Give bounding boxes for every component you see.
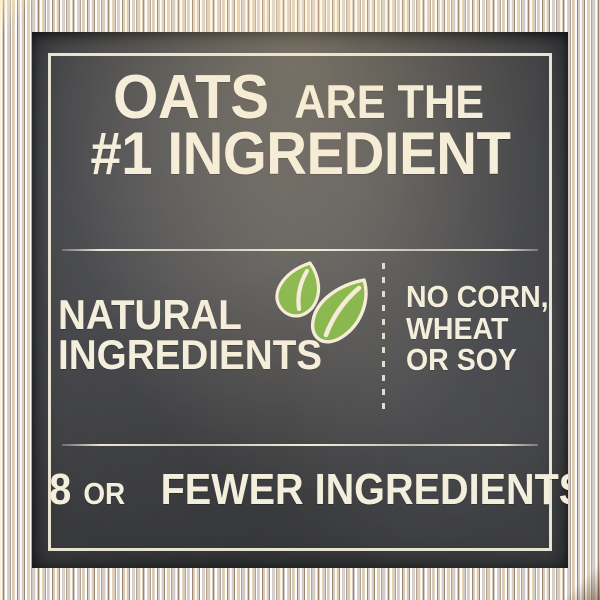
leaf-right — [313, 280, 366, 342]
headline-emphasis-oats: OATS — [113, 69, 269, 126]
ingredient-count: 8 — [49, 465, 71, 515]
top-divider-rule — [62, 249, 538, 251]
headline-line-1: OATSARE THE — [48, 69, 552, 126]
right-line-2: WHEAT — [406, 313, 544, 345]
bottom-divider-rule — [62, 444, 538, 446]
headline-rest-are-the: ARE THE — [294, 80, 484, 123]
wooden-picture-frame: OATSARE THE #1 INGREDIENT NATURAL INGRED… — [0, 0, 600, 600]
right-line-3: OR SOY — [406, 344, 544, 376]
middle-row: NATURAL INGREDIENTS — [48, 259, 552, 439]
no-corn-wheat-soy-text: NO CORN, WHEAT OR SOY — [406, 281, 556, 376]
ingredient-connector: OR — [84, 476, 126, 512]
vertical-dotted-divider — [382, 263, 386, 415]
two-leaves-icon — [270, 259, 380, 354]
fewer-ingredients-block: 8ORFEWER INGREDIENTS — [48, 465, 552, 515]
chalkboard-panel: OATSARE THE #1 INGREDIENT NATURAL INGRED… — [32, 32, 568, 568]
headline-line-2: #1 INGREDIENT — [48, 126, 552, 181]
ingredient-rest: FEWER INGREDIENTS — [161, 465, 568, 515]
leaf-left — [277, 263, 319, 316]
headline-number-one-ingredient: #1 INGREDIENT — [90, 126, 510, 181]
panel-content: OATSARE THE #1 INGREDIENT NATURAL INGRED… — [48, 53, 552, 551]
headline-block: OATSARE THE #1 INGREDIENT — [48, 69, 552, 181]
right-line-1: NO CORN, — [406, 281, 544, 313]
